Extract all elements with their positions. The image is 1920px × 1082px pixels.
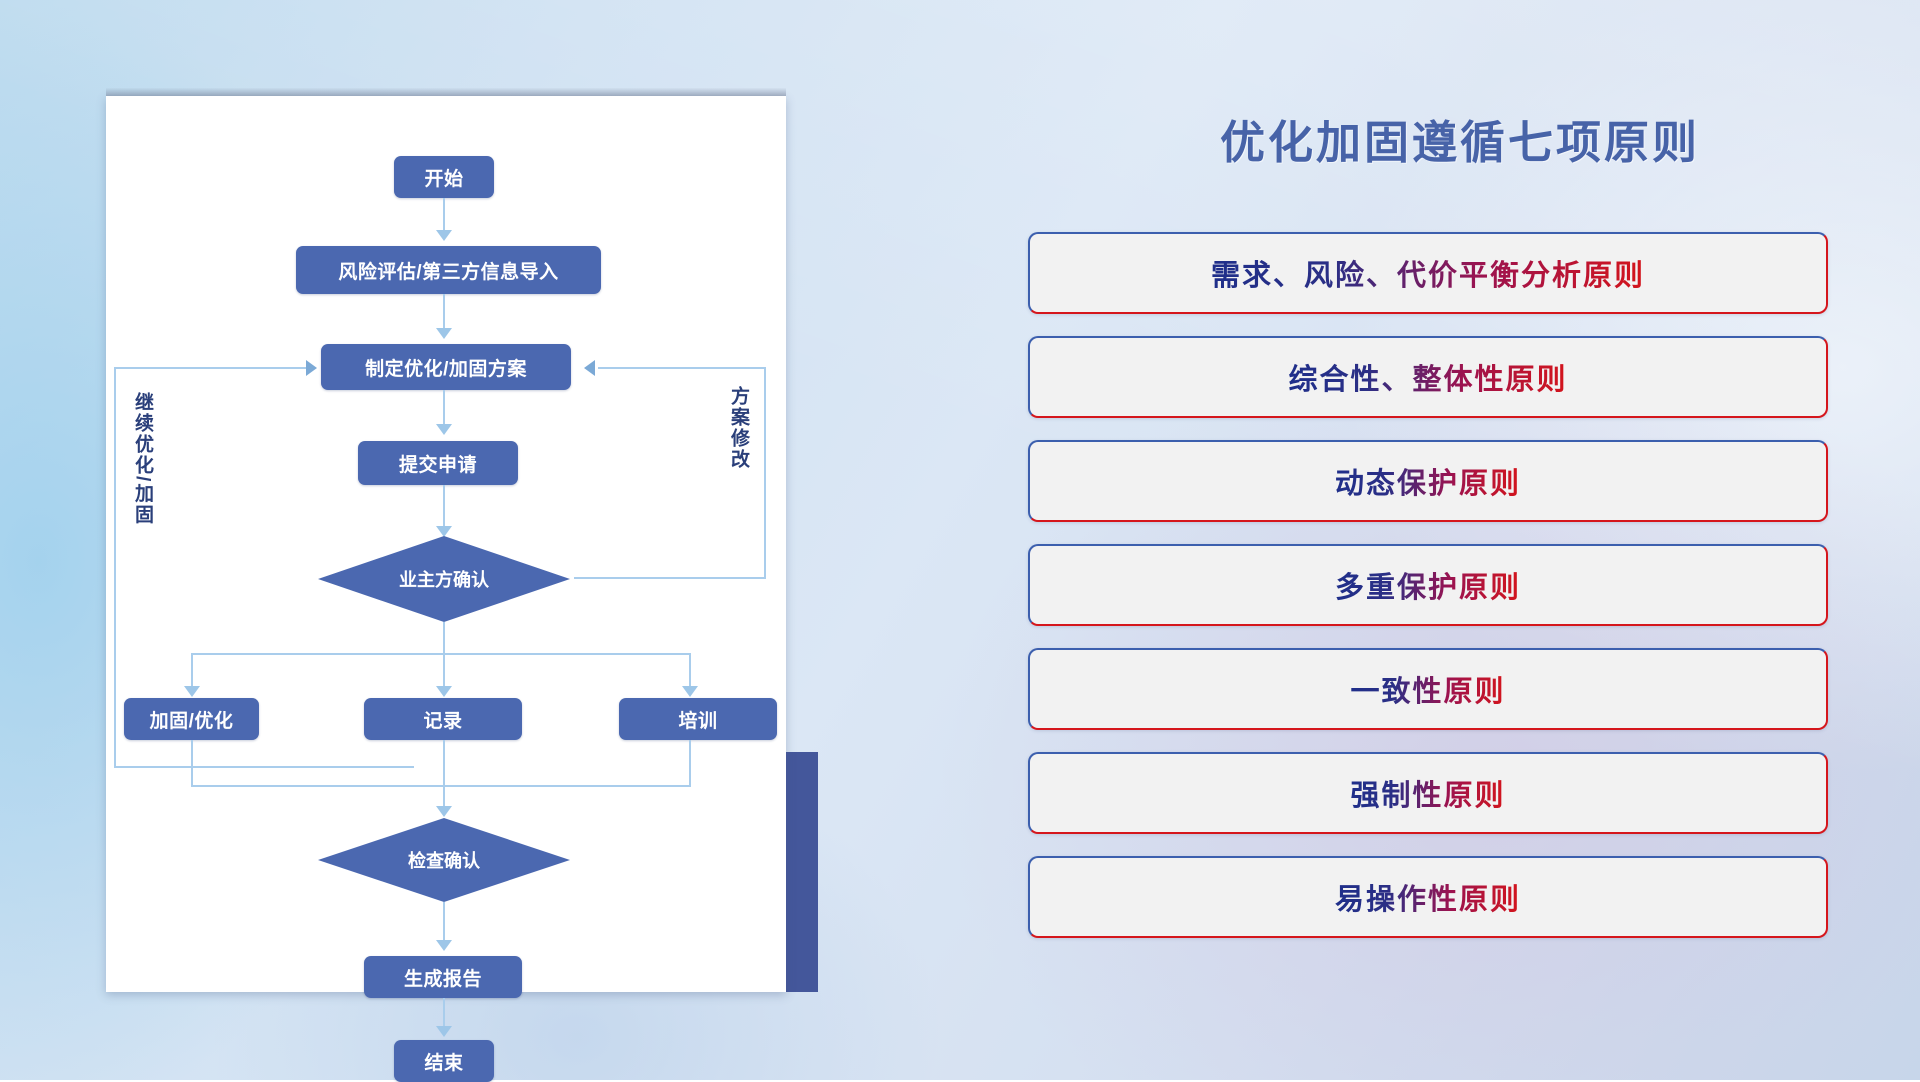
edge-label-continue-optimize: 继续优化/加固 [132, 392, 152, 552]
flow-node-training[interactable]: 培训 [619, 698, 777, 740]
principle-label: 动态保护原则 [1335, 460, 1521, 502]
principle-card-6[interactable]: 强制性原则 [1028, 752, 1828, 834]
arrowhead-down-left-branch [184, 686, 200, 697]
connector-branch-left [191, 653, 193, 690]
edge-label-plan-revision: 方案修改 [728, 386, 748, 506]
arrowhead-down-1 [436, 230, 452, 241]
panel-title: 优化加固遵循七项原则 [1000, 106, 1920, 171]
principle-card-1[interactable]: 需求、风险、代价平衡分析原则 [1028, 232, 1828, 314]
arrowhead-down-mid-branch [436, 686, 452, 697]
principle-label: 易操作性原则 [1335, 876, 1521, 918]
connector-left-loop-bottom [114, 766, 414, 768]
arrowhead-right-plan [306, 360, 317, 376]
connector-right-loop-bottom [574, 577, 766, 579]
flow-node-start[interactable]: 开始 [394, 156, 494, 198]
flowchart: 开始 风险评估/第三方信息导入 制定优化/加固方案 继续优化/加固 方案修改 提… [106, 96, 786, 992]
principle-card-5[interactable]: 一致性原则 [1028, 648, 1828, 730]
connector-merge-bar [191, 785, 691, 787]
arrowhead-down-end [436, 1026, 452, 1037]
flow-node-plan[interactable]: 制定优化/加固方案 [321, 344, 571, 390]
principle-label: 综合性、整体性原则 [1288, 356, 1567, 398]
principles-panel: 优化加固遵循七项原则 需求、风险、代价平衡分析原则 综合性、整体性原则 动态保护… [1000, 0, 1920, 1080]
arrowhead-down-right-branch [682, 686, 698, 697]
flow-node-check-confirm[interactable]: 检查确认 [318, 818, 570, 902]
flow-node-risk-assessment[interactable]: 风险评估/第三方信息导入 [296, 246, 601, 294]
flow-node-submit-application[interactable]: 提交申请 [358, 441, 518, 485]
connector-branch-bar [191, 653, 691, 655]
principle-label: 强制性原则 [1350, 772, 1505, 814]
principle-label: 需求、风险、代价平衡分析原则 [1211, 252, 1645, 294]
flow-node-record[interactable]: 记录 [364, 698, 522, 740]
flow-node-generate-report[interactable]: 生成报告 [364, 956, 522, 998]
principle-card-7[interactable]: 易操作性原则 [1028, 856, 1828, 938]
principle-label: 多重保护原则 [1335, 564, 1521, 606]
principle-card-2[interactable]: 综合性、整体性原则 [1028, 336, 1828, 418]
arrowhead-down-check [436, 806, 452, 817]
connector-reinforce-down [191, 740, 193, 787]
arrowhead-down-4 [436, 526, 452, 537]
connector-right-loop-vertical [764, 367, 766, 579]
arrowhead-down-3 [436, 424, 452, 435]
principle-card-3[interactable]: 动态保护原则 [1028, 440, 1828, 522]
arrowhead-down-report [436, 940, 452, 951]
connector-branch-right [689, 653, 691, 690]
connector-merge-down [443, 740, 445, 810]
connector-left-loop-vertical [114, 367, 116, 768]
connector-right-loop-top [598, 367, 766, 369]
connector-training-down [689, 740, 691, 787]
flow-node-owner-confirm[interactable]: 业主方确认 [318, 536, 570, 622]
flowchart-card: 开始 风险评估/第三方信息导入 制定优化/加固方案 继续优化/加固 方案修改 提… [106, 96, 786, 992]
connector-owner-down [443, 622, 445, 690]
arrowhead-left-plan [584, 360, 595, 376]
arrowhead-down-2 [436, 328, 452, 339]
connector-left-loop-top [114, 367, 310, 369]
principle-label: 一致性原则 [1350, 668, 1505, 710]
flow-node-end[interactable]: 结束 [394, 1040, 494, 1082]
principle-list: 需求、风险、代价平衡分析原则 综合性、整体性原则 动态保护原则 多重保护原则 一… [1028, 232, 1828, 960]
flow-node-reinforce[interactable]: 加固/优化 [124, 698, 259, 740]
principle-card-4[interactable]: 多重保护原则 [1028, 544, 1828, 626]
